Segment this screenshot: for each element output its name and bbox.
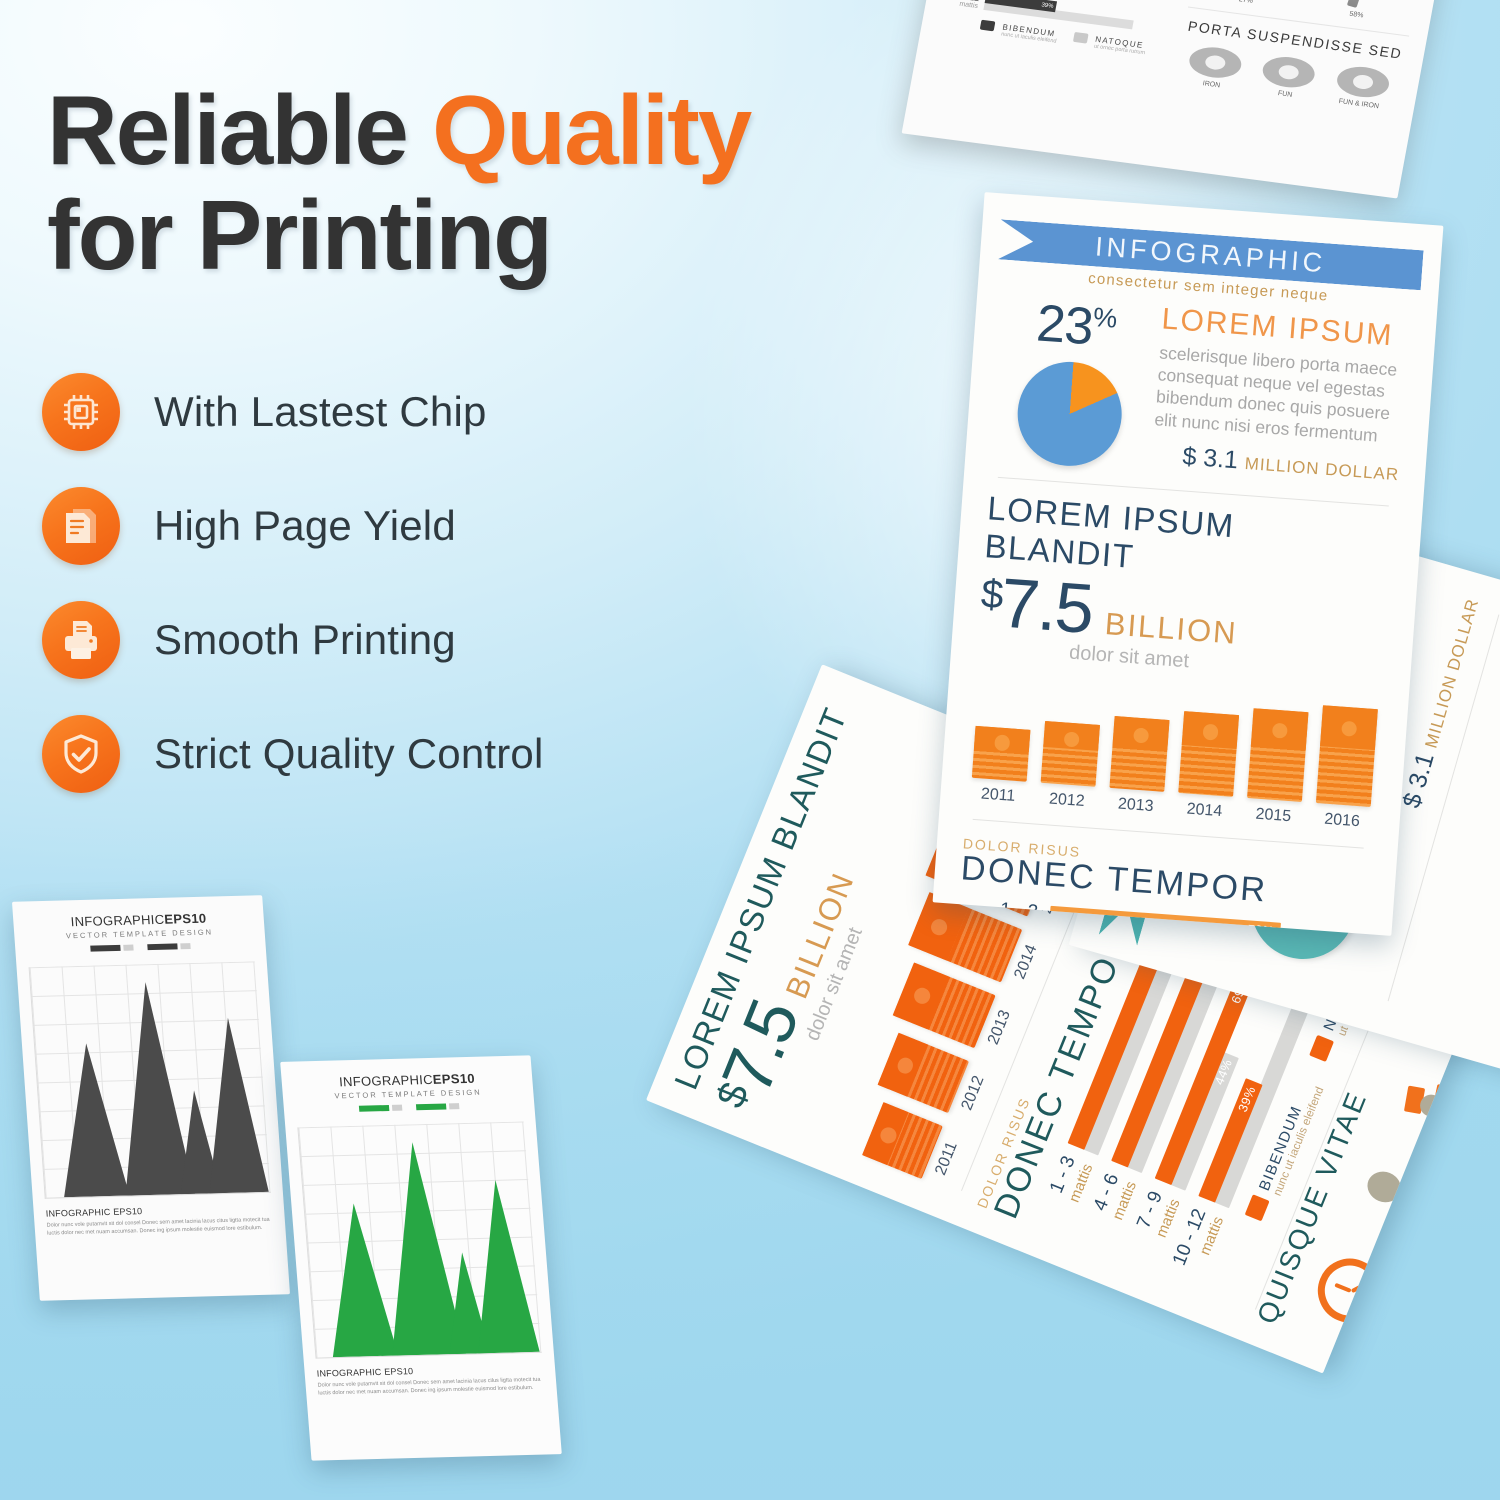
orange-year-bar-item: 2011 [862, 1102, 966, 1188]
grey-chart-footer-body: Dolor nunc vole putamvit sit dol consel … [46, 1216, 273, 1238]
blue-pie-chart [1014, 358, 1125, 469]
green-chart-plot [297, 1121, 541, 1358]
blue-top-row: 23% LOREM IPSUM scelerisque libero porta… [991, 291, 1410, 490]
legend-chip-dark [147, 943, 177, 950]
disk-icon [1187, 44, 1244, 80]
grey-legend-item: NATOQUE ut ornec porta rutrum [1072, 32, 1147, 56]
green-chart-title-bold: EPS10 [432, 1071, 475, 1087]
grey-poster-right-column: QUISQUE VITAE ODIO 27% 58% PORTA SUSPEND… [1174, 0, 1428, 112]
blue-year-bar [1109, 716, 1169, 792]
page-title: Reliable Quality for Printing [47, 78, 927, 288]
blue-year-bar-item: 2014 [1176, 711, 1239, 822]
legend-chip-light [123, 945, 133, 951]
grey-disk-label: FUN [1259, 88, 1312, 102]
feature-badge [42, 373, 120, 451]
grey-bar-value: 39% [1041, 2, 1057, 10]
grey-disk-label: FUN & IRON [1332, 97, 1385, 111]
grey-chart-legend [27, 941, 254, 953]
legend-chip-green [416, 1104, 447, 1111]
feature-label: Strict Quality Control [154, 730, 544, 778]
grey-chart-footer: INFOGRAPHIC EPS10 Dolor nunc vole putamv… [45, 1203, 273, 1238]
blue-year-bar [1041, 721, 1100, 787]
grey-chart-title-main: INFOGRAPHIC [70, 912, 165, 929]
poster-chart-green: INFOGRAPHICEPS10 VECTOR TEMPLATE DESIGN … [280, 1055, 562, 1460]
grey-chart-title-bold: EPS10 [164, 911, 207, 927]
green-chart-title-main: INFOGRAPHIC [339, 1072, 434, 1089]
headline-line1-dark: Reliable [47, 75, 432, 185]
feature-item-page-yield: High Page Yield [42, 470, 702, 582]
legend-chip-light [180, 943, 190, 949]
grey-bar-label: 10 - 12 mattis [944, 0, 987, 10]
blue-year-label: 2014 [1176, 800, 1232, 822]
blue-blandit-number: $7.5 [978, 561, 1095, 649]
blue-lorem-body: scelerisque libero porta maece consequat… [1154, 341, 1408, 448]
headline-line1-accent: Quality [432, 75, 750, 185]
blue-year-bar-item: 2011 [970, 726, 1030, 807]
feature-label: Smooth Printing [154, 616, 456, 664]
blue-dollar-unit: MILLION DOLLAR [1244, 454, 1400, 484]
grey-chart-poster-head: INFOGRAPHICEPS10 VECTOR TEMPLATE DESIGN [25, 909, 254, 953]
feature-item-quality-control: Strict Quality Control [42, 698, 702, 810]
grey-pen-stat: 58% [1349, 11, 1364, 20]
blue-year-label: 2011 [970, 785, 1026, 807]
headline-line2: for Printing [47, 180, 551, 290]
grey-chart-plot [29, 961, 271, 1198]
poster-blue-main: INFOGRAPHIC consectetur sem integer nequ… [933, 192, 1444, 936]
blue-pie-column: 23% [991, 291, 1153, 472]
feature-list: With Lastest Chip High Page Yield [42, 356, 702, 812]
grey-poster-left-column: DOLOR RISUS DONEC TEMPOR 1 - 3 mattis 73… [935, 0, 1189, 81]
poster-chart-grey: INFOGRAPHICEPS10 VECTOR TEMPLATE DESIGN … [12, 895, 290, 1301]
green-chart-footer: INFOGRAPHIC EPS10 Dolor nunc vole putamv… [316, 1363, 545, 1398]
blue-year-bar [1247, 708, 1308, 802]
printer-icon [58, 617, 104, 663]
feature-label: With Lastest Chip [154, 388, 487, 436]
grey-legend-swatch [980, 20, 996, 32]
blue-pie-percent-symbol: % [1092, 302, 1117, 334]
blue-year-label: 2013 [1108, 795, 1164, 817]
blue-year-label: 2016 [1314, 810, 1370, 832]
pen-icon [1347, 0, 1375, 8]
green-peak-chart [298, 1121, 541, 1357]
green-chart-legend [296, 1102, 523, 1114]
legend-chip-dark [90, 945, 120, 952]
legend-chip-light [449, 1103, 459, 1109]
blue-year-bar-item: 2013 [1108, 716, 1170, 817]
blue-year-bar-item: 2015 [1245, 708, 1308, 827]
legend-chip-green [359, 1105, 390, 1112]
grey-disk-label: IRON [1185, 78, 1238, 92]
feature-badge [42, 487, 120, 565]
blue-dollar-value: $ 3.1 [1182, 442, 1240, 474]
green-chart-footer-body: Dolor nunc vole putamvit sit dol consel … [317, 1376, 545, 1398]
poster-canvas: DOLOR RISUS DONEC TEMPOR 1 - 3 mattis 73… [0, 0, 1500, 1500]
orange-legend-swatch [1245, 1194, 1270, 1221]
blue-dollar-line: $ 3.1 MILLION DOLLAR [1151, 440, 1400, 487]
blue-blandit-value: 7.5 [998, 564, 1095, 648]
blue-year-bar [972, 726, 1031, 782]
grey-legend-swatch [1073, 32, 1089, 44]
shield-check-icon [59, 732, 103, 776]
blue-year-bar-item: 2012 [1039, 721, 1100, 812]
blue-year-label: 2015 [1245, 805, 1301, 827]
disk-icon [1334, 64, 1391, 100]
blue-pie-percent: 23% [999, 291, 1153, 362]
grey-legend-item: BIBENDUM nunc ut iaculis eleifend [979, 20, 1059, 45]
feature-item-smooth-printing: Smooth Printing [42, 584, 702, 696]
feature-badge [42, 715, 120, 793]
disk-icon [1261, 54, 1318, 90]
blue-text-column: LOREM IPSUM scelerisque libero porta mae… [1141, 302, 1411, 487]
grey-peak-chart [30, 961, 271, 1197]
document-icon [59, 504, 103, 548]
blue-pie-percent-value: 23 [1035, 294, 1095, 356]
blue-year-bar [1178, 711, 1239, 797]
blue-year-bars: 2011 2012 2013 2014 2015 2016 [966, 680, 1382, 833]
feature-badge [42, 601, 120, 679]
feature-label: High Page Yield [154, 502, 456, 550]
green-chart-poster-head: INFOGRAPHICEPS10 VECTOR TEMPLATE DESIGN [293, 1070, 522, 1114]
blue-year-label: 2012 [1039, 790, 1095, 812]
legend-chip-light [392, 1105, 402, 1111]
grey-pen-stat: 27% [1238, 0, 1253, 5]
orange-legend-swatch [1309, 1034, 1334, 1061]
blue-year-bar-item: 2016 [1314, 705, 1378, 832]
chip-icon [59, 390, 103, 434]
blue-year-bar [1316, 705, 1378, 807]
feature-item-chip: With Lastest Chip [42, 356, 702, 468]
